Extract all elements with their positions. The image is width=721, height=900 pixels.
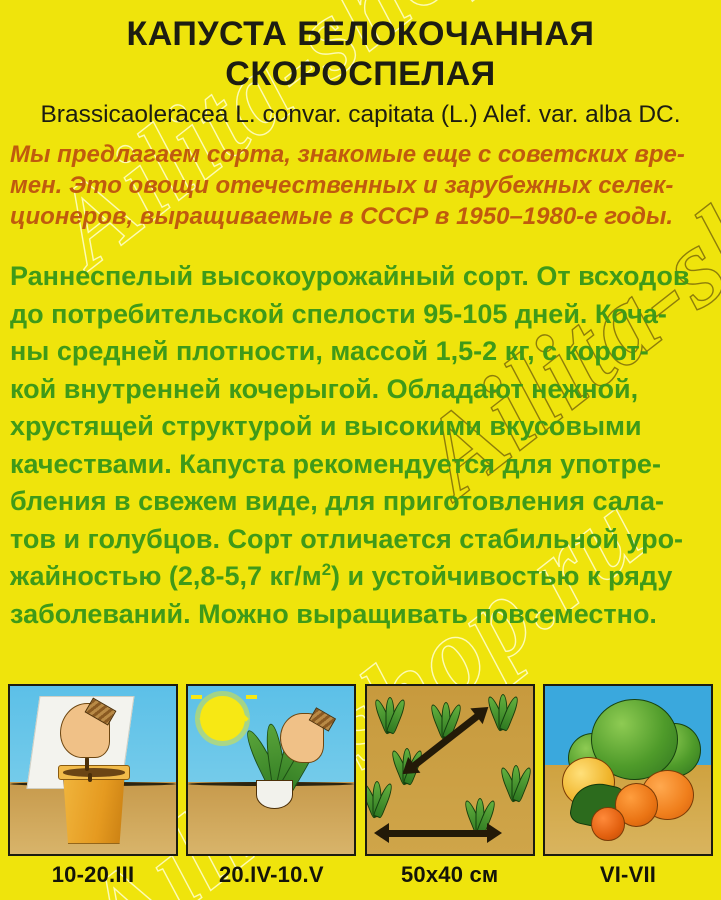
pot-soil [63, 768, 124, 776]
caption-sowing: 10-20.III [8, 862, 178, 888]
yield-suffix: ) и устойчивостью к ряду [331, 561, 672, 591]
intro-line: мен. Это овощи отечественных и зарубежны… [10, 170, 713, 201]
intro-paragraph: Мы предлагаем сорта, знакомые еще с сове… [10, 139, 713, 232]
description-line: качествами. Капуста рекомендуется для уп… [10, 446, 713, 484]
caption-transplanting: 20.IV-10.V [186, 862, 356, 888]
intro-line: Мы предлагаем сорта, знакомые еще с сове… [10, 139, 713, 170]
panel-captions: 10-20.III 20.IV-10.V 50x40 см VI-VII [8, 862, 713, 888]
flower-pot-icon [63, 777, 124, 844]
seed-packet: КАПУСТА БЕЛОКОЧАННАЯ СКОРОСПЕЛАЯ Brassic… [0, 0, 721, 900]
panel-sowing [8, 684, 178, 856]
description-line: ны средней плотности, массой 1,5-2 кг, с… [10, 333, 713, 371]
square-meter-superscript: 2 [322, 560, 331, 579]
intro-line: ционеров, выращиваемые в СССР в 1950–198… [10, 201, 713, 232]
description-line: заболеваний. Можно выращивать повсеместн… [10, 596, 713, 634]
panel-spacing [365, 684, 535, 856]
root-ball [256, 780, 293, 809]
description-paragraph: Раннеспелый высокоурожайный сорт. От всх… [10, 258, 713, 633]
sun-icon [200, 696, 245, 741]
panel-transplanting [186, 684, 356, 856]
latin-name: Brassicaoleracea L. convar. capitata (L.… [0, 100, 721, 130]
description-line: кой внутренней кочерыгой. Обладают нежно… [10, 371, 713, 409]
description-line: Раннеспелый высокоурожайный сорт. От всх… [10, 258, 713, 296]
seedling-icon [370, 689, 410, 733]
illustration-panels [8, 684, 713, 856]
hand-icon [280, 713, 325, 763]
description-line: хрустящей структурой и высокими вкусовым… [10, 408, 713, 446]
seedling-icon [496, 757, 535, 801]
page-title: КАПУСТА БЕЛОКОЧАННАЯ СКОРОСПЕЛАЯ [0, 14, 721, 94]
description-line: бления в свежем виде, для приготовления … [10, 483, 713, 521]
title-line-1: КАПУСТА БЕЛОКОЧАННАЯ [0, 14, 721, 54]
description-line: до потребительской спелости 95-105 дней.… [10, 296, 713, 334]
description-line: тов и голубцов. Сорт отличается стабильн… [10, 521, 713, 559]
description-line-yield: жайностью (2,8-5,7 кг/м2) и устойчивость… [10, 558, 713, 596]
hand-icon [60, 703, 110, 758]
caption-spacing: 50x40 см [365, 862, 535, 888]
seedling-icon [365, 773, 397, 817]
seed-icon [88, 773, 92, 782]
panel-harvest [543, 684, 713, 856]
horizontal-spacing-arrow-icon [387, 830, 490, 837]
title-line-2: СКОРОСПЕЛАЯ [0, 54, 721, 94]
small-root-vegetable-icon [591, 807, 624, 841]
yield-prefix: жайностью (2,8-5,7 кг/м [10, 561, 322, 591]
seed-icon [85, 757, 89, 771]
caption-harvest: VI-VII [543, 862, 713, 888]
